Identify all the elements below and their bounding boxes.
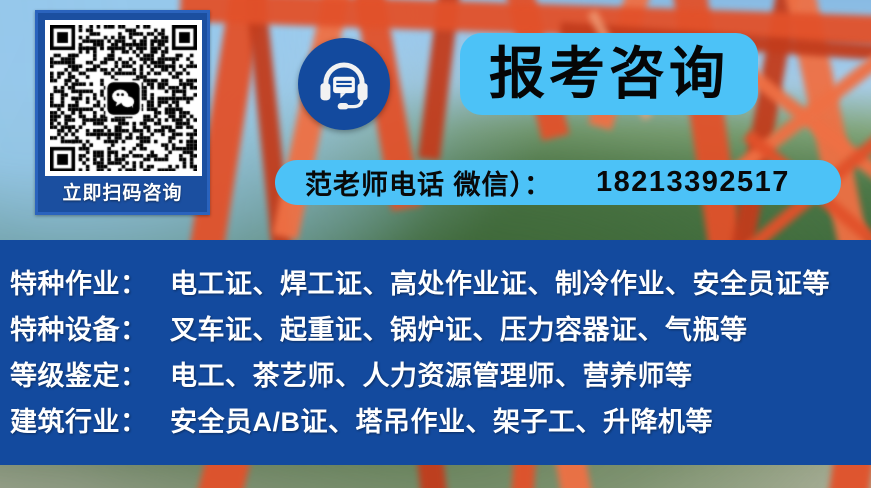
certification-items: 电工证、焊工证、高处作业证、制冷作业、安全员证等 — [170, 262, 830, 301]
certification-list-panel: 特种作业： 电工证、焊工证、高处作业证、制冷作业、安全员证等 特种设备： 叉车证… — [0, 240, 871, 465]
certification-category: 建筑行业： — [10, 400, 160, 439]
qr-code-image — [50, 25, 197, 171]
certification-items: 电工、茶艺师、人力资源管理师、营养师等 — [170, 354, 693, 393]
consultation-title-pill[interactable]: 报考咨询 — [460, 33, 758, 115]
qr-code-image-wrap — [45, 20, 202, 176]
certification-row: 建筑行业： 安全员A/B证、塔吊作业、架子工、升降机等 — [10, 400, 871, 446]
certification-row: 特种作业： 电工证、焊工证、高处作业证、制冷作业、安全员证等 — [10, 262, 871, 308]
qr-code-card[interactable]: 立即扫码咨询 — [35, 10, 210, 215]
certification-category: 等级鉴定： — [10, 354, 160, 393]
contact-label: 范老师电话 微信）： — [305, 163, 552, 202]
certification-row: 特种设备： 叉车证、起重证、锅炉证、压力容器证、气瓶等 — [10, 308, 871, 354]
certification-category: 特种作业： — [10, 262, 160, 301]
certification-row: 等级鉴定： 电工、茶艺师、人力资源管理师、营养师等 — [10, 354, 871, 400]
certification-items: 安全员A/B证、塔吊作业、架子工、升降机等 — [170, 400, 713, 439]
consultation-title-text: 报考咨询 — [489, 45, 729, 103]
contact-phone-pill[interactable]: 范老师电话 微信）： 18213392517 — [275, 160, 841, 205]
qr-caption-label: 立即扫码咨询 — [38, 180, 207, 208]
headset-chat-icon — [315, 55, 373, 113]
certification-items: 叉车证、起重证、锅炉证、压力容器证、气瓶等 — [170, 308, 748, 347]
headset-icon-badge — [298, 38, 390, 130]
certification-category: 特种设备： — [10, 308, 160, 347]
header-band: 立即扫码咨询 报考咨询 范老师电话 微信）： 18213392517 — [0, 0, 871, 240]
contact-number: 18213392517 — [596, 166, 790, 199]
